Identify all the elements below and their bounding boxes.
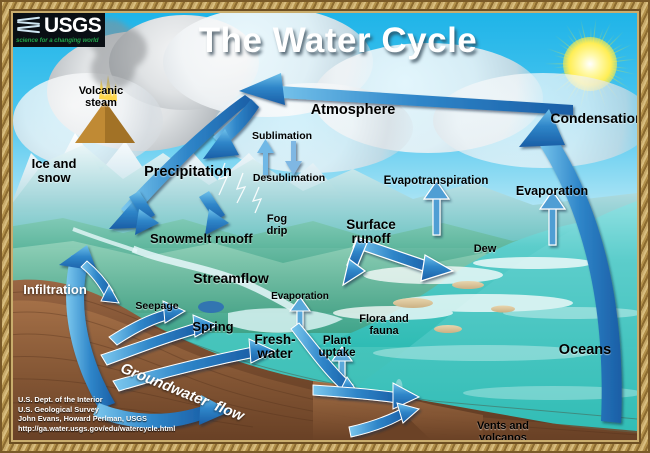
water-cycle-poster: USGS science for a changing world The Wa…: [0, 0, 650, 453]
credits-block: U.S. Dept. of the InteriorU.S. Geologica…: [18, 395, 175, 434]
label-dew: Dew: [474, 244, 497, 256]
credit-line: http://ga.water.usgs.gov/edu/watercycle.…: [18, 424, 175, 434]
label-fog-drip: Fog drip: [267, 214, 288, 237]
label-flora-and-fauna: Flora and fauna: [359, 314, 409, 337]
label-vents-and-volcanos: Vents and volcanos: [477, 421, 529, 440]
credit-line: John Evans, Howard Perlman, USGS: [18, 414, 175, 424]
label-infiltration: Infiltration: [23, 283, 87, 297]
label-condensation: Condensation: [550, 111, 637, 126]
label-precipitation: Precipitation: [144, 165, 232, 180]
label-ice-and-snow: Ice and snow: [32, 157, 77, 185]
label-desublimation: Desublimation: [253, 173, 325, 184]
usgs-tagline: science for a changing world: [16, 37, 98, 44]
label-surface-runoff: Surface runoff: [346, 218, 396, 247]
poster-stage: USGS science for a changing world The Wa…: [13, 13, 637, 440]
label-freshwater: Fresh- water: [254, 333, 295, 362]
usgs-wave-icon: [16, 16, 42, 35]
atmosphere-arrow: [239, 73, 573, 115]
label-volcanic-steam: Volcanic steam: [79, 86, 123, 109]
scene-artwork: [13, 13, 637, 440]
label-evaporation-stream: Evaporation: [271, 292, 329, 303]
desublimation-down-arrow: [285, 141, 302, 175]
label-seepage: Seepage: [135, 301, 178, 312]
label-spring: Spring: [192, 320, 233, 334]
label-sublimation: Sublimation: [252, 131, 312, 142]
label-snowmelt-runoff: Snowmelt runoff: [150, 232, 253, 246]
label-streamflow: Streamflow: [193, 271, 268, 286]
credit-line: U.S. Dept. of the Interior: [18, 395, 175, 405]
label-atmosphere: Atmosphere: [311, 103, 396, 118]
page-title: The Water Cycle: [199, 21, 478, 61]
usgs-logo[interactable]: USGS science for a changing world: [13, 13, 105, 47]
label-evaporation-ocean: Evaporation: [516, 185, 588, 198]
usgs-wordmark: USGS: [44, 14, 101, 38]
label-plant-uptake: Plant uptake: [318, 335, 355, 359]
label-groundwater-storage: Groundwater storage: [214, 439, 356, 440]
spring-pool: [198, 301, 224, 313]
credit-line: U.S. Geological Survey: [18, 405, 175, 415]
label-oceans: Oceans: [559, 343, 611, 358]
label-evapotranspiration: Evapotranspiration: [384, 175, 489, 187]
